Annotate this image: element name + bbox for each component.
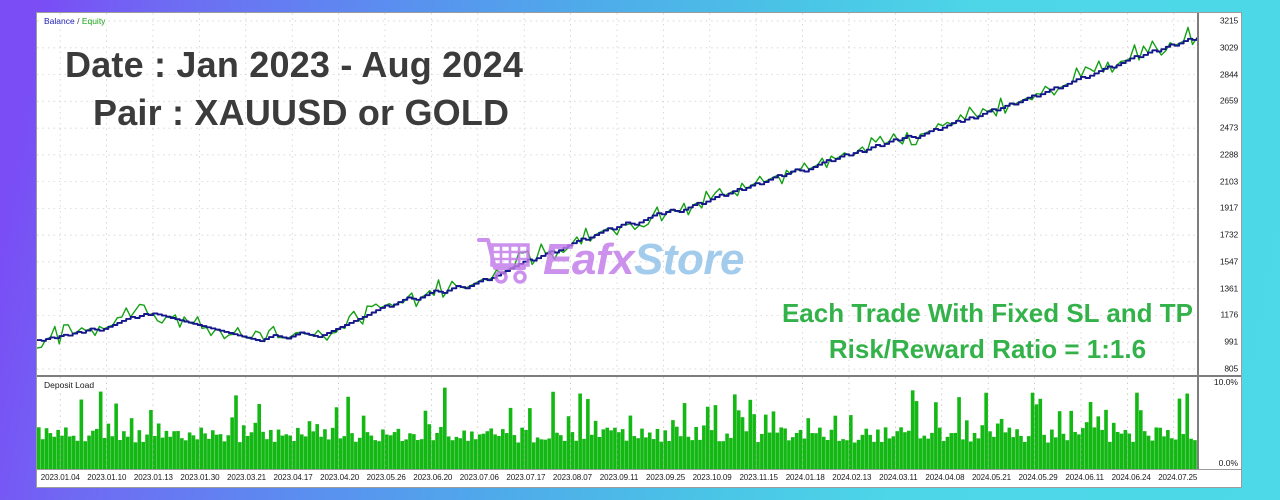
legend-equity-label: Equity	[82, 16, 106, 26]
date-axis-tick: 2024.05.29	[1019, 473, 1058, 483]
date-axis-tick: 2024.07.25	[1158, 473, 1197, 483]
legend-balance-label: Balance	[44, 16, 75, 26]
date-axis-tick: 2023.01.13	[134, 473, 173, 483]
date-axis-tick: 2023.06.20	[413, 473, 452, 483]
equity-axis-tick: 1917	[1220, 204, 1238, 213]
date-axis-tick: 2024.06.11	[1065, 473, 1103, 483]
date-axis-tick: 2024.06.24	[1112, 473, 1151, 483]
equity-axis-tick: 805	[1224, 365, 1238, 374]
equity-axis-tick: 1732	[1220, 231, 1238, 240]
date-axis-tick: 2023.07.06	[460, 473, 499, 483]
date-axis-tick: 2024.03.11	[879, 473, 917, 483]
date-axis-tick: 2023.09.25	[646, 473, 685, 483]
equity-axis-tick: 1176	[1221, 311, 1238, 320]
equity-axis-tick: 2659	[1220, 97, 1238, 106]
equity-curve-chart	[37, 13, 1197, 375]
deposit-plot-area	[37, 377, 1199, 469]
equity-axis-tick: 2473	[1220, 124, 1238, 133]
equity-axis-tick: 3215	[1220, 17, 1238, 26]
date-axis-tick: 2023.03.21	[227, 473, 266, 483]
balance-equity-legend: Balance / Equity	[42, 16, 107, 26]
date-axis-tick: 2023.01.04	[41, 473, 80, 483]
date-axis-tick: 2024.05.21	[972, 473, 1011, 483]
date-axis-tick: 2024.01.18	[786, 473, 825, 483]
equity-axis-tick: 3029	[1220, 43, 1238, 52]
equity-axis-tick: 1361	[1220, 284, 1238, 293]
deposit-axis-bottom-label: 0.0%	[1219, 459, 1238, 468]
equity-axis-tick: 991	[1224, 338, 1238, 347]
deposit-load-legend: Deposit Load	[42, 380, 96, 390]
strategy-tester-report: Balance / Equity 32153029284426592473228…	[36, 12, 1242, 488]
equity-axis-tick: 2288	[1220, 150, 1238, 159]
equity-value-axis: 3215302928442659247322882103191717321547…	[1199, 13, 1241, 375]
date-axis-tick: 2023.04.20	[320, 473, 359, 483]
balance-equity-panel: Balance / Equity 32153029284426592473228…	[37, 13, 1241, 377]
equity-axis-tick: 2103	[1220, 177, 1238, 186]
deposit-axis-top-label: 10.0%	[1214, 378, 1238, 387]
date-axis-tick: 2023.01.10	[87, 473, 126, 483]
equity-axis-tick: 2844	[1220, 70, 1238, 79]
date-axis-tick: 2023.05.26	[367, 473, 406, 483]
date-axis-tick: 2023.04.17	[274, 473, 313, 483]
date-axis-tick: 2023.09.11	[600, 473, 638, 483]
date-axis-tick: 2024.04.08	[925, 473, 964, 483]
date-axis-tick: 2023.01.30	[180, 473, 219, 483]
date-axis-tick: 2023.08.07	[553, 473, 592, 483]
date-axis-tick: 2023.07.17	[506, 473, 545, 483]
date-axis-tick: 2023.10.09	[693, 473, 732, 483]
date-axis: 2023.01.042023.01.102023.01.132023.01.30…	[37, 469, 1241, 487]
legend-separator: /	[75, 16, 82, 26]
equity-axis-tick: 1547	[1220, 257, 1238, 266]
deposit-value-axis: 10.0% 0.0%	[1199, 377, 1241, 469]
deposit-load-panel: Deposit Load 10.0% 0.0%	[37, 377, 1241, 469]
equity-plot-area	[37, 13, 1199, 375]
deposit-load-histogram	[37, 377, 1197, 469]
date-axis-tick: 2023.11.15	[739, 473, 777, 483]
date-axis-tick: 2024.02.13	[832, 473, 871, 483]
